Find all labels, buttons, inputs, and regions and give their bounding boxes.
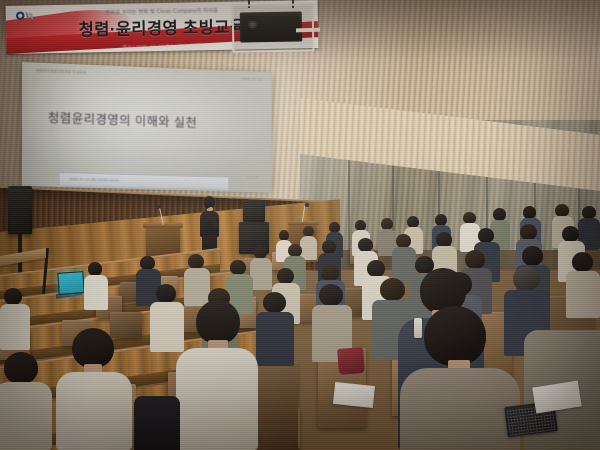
torso bbox=[176, 348, 258, 450]
head-icon bbox=[572, 252, 593, 272]
audience-member-foreground bbox=[0, 352, 52, 450]
torso bbox=[250, 258, 272, 290]
torso bbox=[566, 271, 600, 318]
head-icon bbox=[358, 238, 373, 252]
presenter-hand bbox=[209, 207, 213, 211]
head-icon bbox=[4, 288, 22, 305]
photo-scene: 변화를 보이는 변화 및 Clean Company의 자리를 청렴·윤리경영 … bbox=[0, 0, 600, 450]
slide-page-number: 1 / 4 8 bbox=[247, 175, 259, 179]
head-icon bbox=[424, 306, 486, 366]
torso bbox=[256, 312, 294, 366]
speaker-grille bbox=[245, 202, 263, 220]
speaker-grille bbox=[10, 188, 30, 232]
audience-member bbox=[0, 288, 30, 350]
head-icon bbox=[478, 228, 494, 243]
audience-member-foreground bbox=[176, 300, 258, 450]
audience-member bbox=[250, 246, 272, 290]
head-icon bbox=[263, 292, 286, 313]
projection-screen: 청렴윤리경영교육과정 안내자료 2025 07 10 청렴윤리경영의 이해와 실… bbox=[22, 62, 272, 193]
audience-member-foreground bbox=[56, 328, 132, 450]
audience-member bbox=[566, 252, 600, 318]
lectern-right-top bbox=[288, 221, 319, 225]
head-icon bbox=[72, 328, 114, 368]
slide-footer-text: 2025.07.10 (목) 13:30-16:30 bbox=[70, 177, 119, 183]
head-icon bbox=[513, 266, 540, 291]
torso bbox=[400, 368, 520, 450]
torso bbox=[0, 304, 30, 350]
head-icon bbox=[367, 260, 385, 277]
head-icon bbox=[465, 250, 485, 269]
head-icon bbox=[520, 224, 537, 240]
leg bbox=[134, 396, 180, 450]
torso bbox=[56, 372, 132, 450]
head-icon bbox=[156, 284, 176, 303]
laptop-screen bbox=[57, 271, 84, 295]
torso bbox=[0, 382, 52, 450]
audience-member bbox=[256, 292, 294, 366]
pa-speaker-left bbox=[8, 186, 32, 234]
torso bbox=[84, 275, 108, 310]
audience-member bbox=[84, 262, 108, 310]
head-icon bbox=[522, 246, 543, 266]
handbag bbox=[337, 347, 365, 375]
water-bottle bbox=[414, 318, 422, 338]
audience-member-foreground bbox=[134, 396, 180, 450]
head-icon bbox=[321, 264, 339, 281]
head-icon bbox=[196, 300, 240, 344]
wall-shelf bbox=[296, 28, 320, 33]
slide-header-right: 2025 07 10 bbox=[241, 77, 262, 82]
head-icon bbox=[230, 260, 246, 275]
head-icon bbox=[319, 284, 343, 306]
pa-speaker-right-upper bbox=[243, 200, 265, 222]
head-icon bbox=[4, 352, 38, 384]
head-icon bbox=[562, 226, 579, 242]
seat-back bbox=[252, 362, 298, 450]
head-icon bbox=[436, 232, 452, 247]
head-icon bbox=[322, 240, 336, 254]
notebook-page bbox=[333, 382, 375, 408]
microphone-icon bbox=[156, 205, 160, 209]
head-icon bbox=[277, 268, 294, 284]
projector-lens-icon bbox=[248, 20, 257, 29]
head-icon bbox=[396, 234, 411, 248]
head-icon bbox=[188, 254, 204, 269]
microphone-icon bbox=[305, 203, 309, 207]
